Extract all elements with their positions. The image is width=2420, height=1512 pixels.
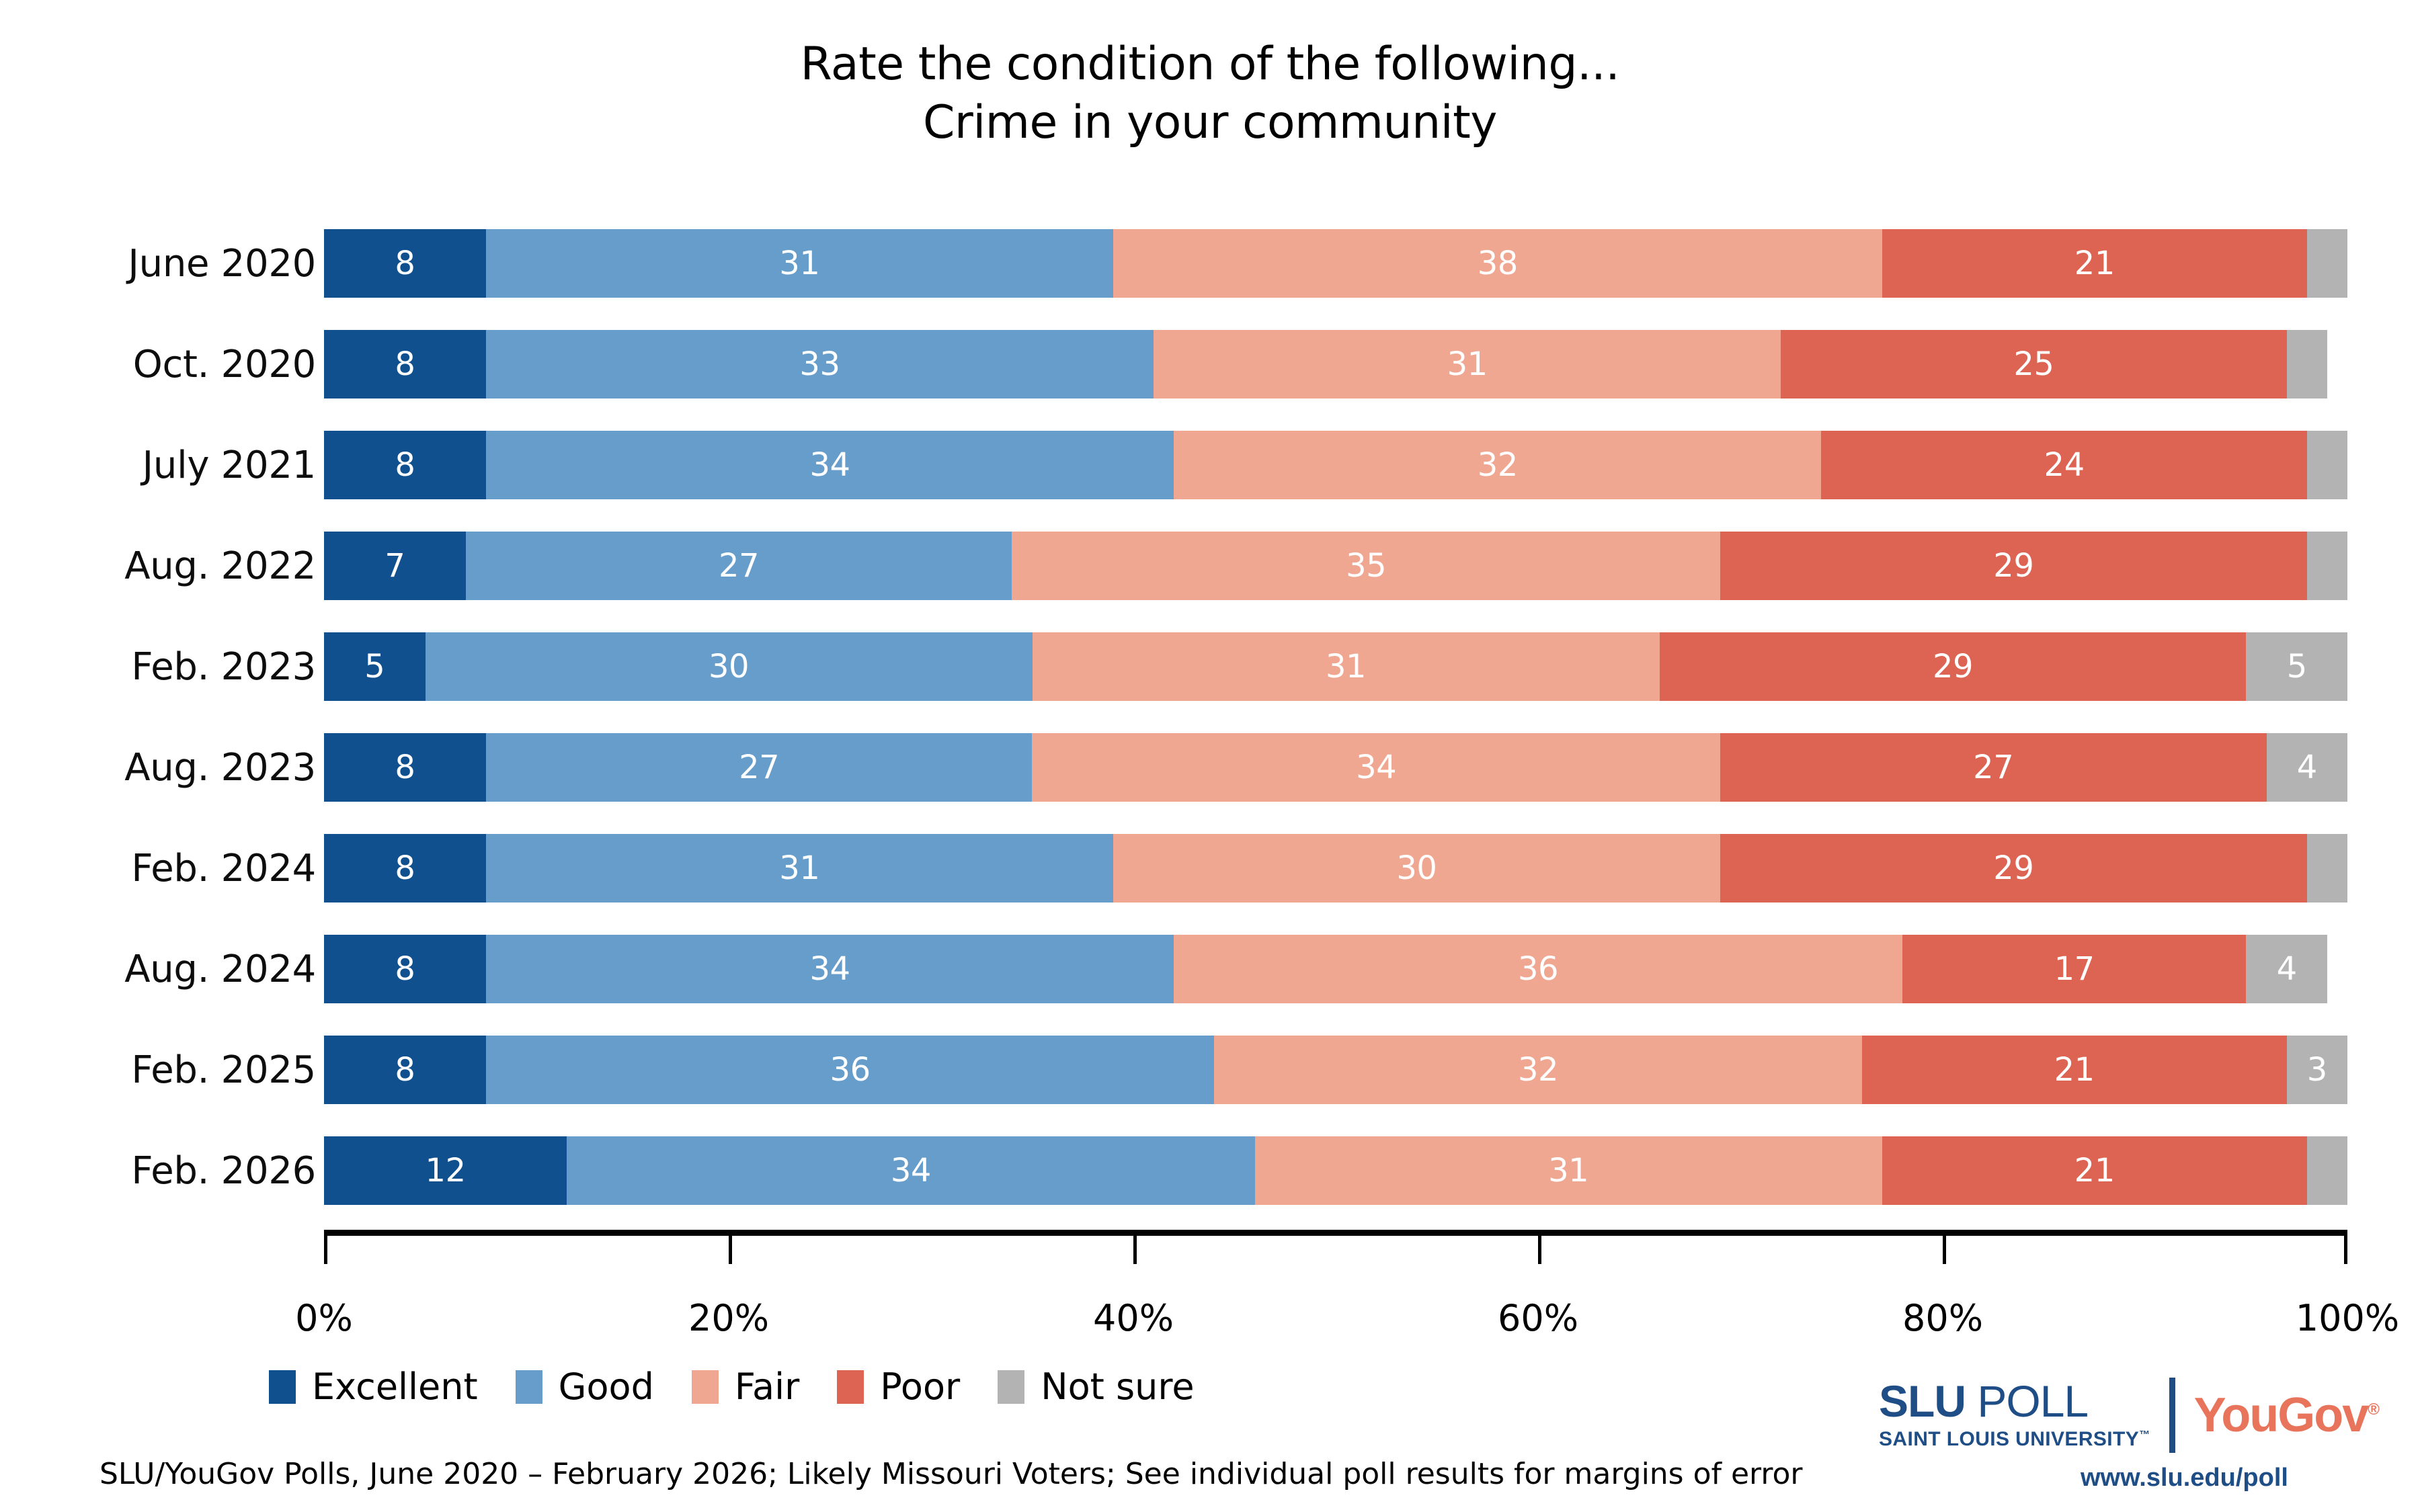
- bar-row: 83436174: [324, 919, 2347, 1019]
- registered-trademark-icon: ®: [2368, 1400, 2378, 1419]
- bar-segment-value: 33: [799, 345, 840, 383]
- bar-segment-value: 7: [385, 547, 405, 585]
- bar-row: 83632213: [324, 1019, 2347, 1120]
- bar-segment-value: 31: [1548, 1152, 1588, 1189]
- x-axis-tick-label: 80%: [1902, 1297, 1983, 1339]
- bar-segment-value: 31: [1326, 648, 1366, 685]
- bar-segment-value: 8: [395, 446, 415, 484]
- y-axis-label: July 2021: [67, 415, 316, 515]
- bar-segment-not-sure: 4: [2246, 935, 2327, 1003]
- bar-segment-value: 3: [2307, 1051, 2327, 1089]
- bar-segment-good: 27: [486, 733, 1033, 802]
- bar-segment-fair: 38: [1113, 229, 1882, 298]
- bar-segment-value: 12: [426, 1152, 466, 1189]
- bar-segment-excellent: 5: [324, 632, 426, 701]
- legend-swatch-icon: [998, 1370, 1024, 1404]
- x-axis-tick: [324, 1236, 327, 1264]
- legend-label: Poor: [880, 1366, 960, 1408]
- bar-segment-value: 27: [719, 547, 759, 585]
- x-axis-tick: [729, 1236, 732, 1264]
- x-axis-tick-label: 60%: [1498, 1297, 1578, 1339]
- bar-segment-poor: 21: [1862, 1036, 2287, 1104]
- legend-item-fair[interactable]: Fair: [692, 1366, 799, 1408]
- bar-segment-value: 8: [395, 849, 415, 887]
- bar-segment-poor: 21: [1882, 1136, 2307, 1205]
- bar-segment-excellent: 8: [324, 834, 486, 902]
- bar-row: 8333125: [324, 314, 2347, 415]
- bar-segment-value: 27: [1973, 749, 2013, 786]
- bar-segment-value: 29: [1933, 648, 1973, 685]
- legend-swatch-icon: [837, 1370, 864, 1404]
- bar-segment-not-sure: [2307, 532, 2347, 600]
- bar-segment-value: 8: [395, 1051, 415, 1089]
- bar-segment-value: 32: [1518, 1051, 1558, 1089]
- y-axis-label: Feb. 2025: [67, 1019, 316, 1120]
- bar-segment-value: 25: [2013, 345, 2054, 383]
- bar-row: 8313029: [324, 818, 2347, 919]
- bar-segment-value: 30: [709, 648, 749, 685]
- legend-label: Good: [559, 1366, 654, 1408]
- bar-segment-fair: 31: [1154, 330, 1781, 398]
- x-axis-tick: [1538, 1236, 1541, 1264]
- bar-segment-value: 36: [1518, 950, 1558, 988]
- bar-track: 8313029: [324, 834, 2347, 902]
- bar-segment-good: 34: [567, 1136, 1254, 1205]
- bar-segment-fair: 31: [1255, 1136, 1882, 1205]
- bar-segment-poor: 27: [1720, 733, 2267, 802]
- bar-segment-excellent: 8: [324, 431, 486, 499]
- bar-segment-value: 31: [1447, 345, 1488, 383]
- bar-segment-value: 29: [1993, 547, 2033, 585]
- bar-segment-excellent: 8: [324, 935, 486, 1003]
- bar-segment-value: 31: [779, 849, 819, 887]
- bar-segment-fair: 32: [1174, 431, 1821, 499]
- bar-segment-poor: 29: [1720, 834, 2307, 902]
- bar-segment-value: 5: [364, 648, 385, 685]
- bar-segment-value: 21: [2054, 1051, 2095, 1089]
- bar-segment-poor: 29: [1720, 532, 2307, 600]
- x-axis-tick: [1943, 1236, 1946, 1264]
- bar-segment-good: 34: [486, 935, 1174, 1003]
- bar-track: 8313821: [324, 229, 2347, 298]
- bar-segment-fair: 32: [1214, 1036, 1861, 1104]
- bar-segment-value: 31: [779, 245, 819, 282]
- bar-segment-poor: 24: [1821, 431, 2306, 499]
- bar-segment-good: 31: [486, 834, 1113, 902]
- saint-louis-university-text: SAINT LOUIS UNIVERSITY™: [1879, 1427, 2150, 1452]
- bar-segment-value: 8: [395, 245, 415, 282]
- bar-segment-value: 34: [891, 1152, 931, 1189]
- bar-segment-good: 27: [466, 532, 1012, 600]
- x-axis-line: [324, 1230, 2347, 1236]
- y-axis-label: Aug. 2024: [67, 919, 316, 1019]
- bar-row: 12343121: [324, 1120, 2347, 1221]
- legend-label: Excellent: [312, 1366, 478, 1408]
- bar-segment-value: 27: [739, 749, 779, 786]
- x-axis-tick-label: 0%: [295, 1297, 353, 1339]
- bar-segment-excellent: 8: [324, 229, 486, 298]
- slu-poll-yougov-logo: SLU POLL SAINT LOUIS UNIVERSITY™ YouGov®…: [1879, 1378, 2378, 1493]
- bar-segment-value: 34: [809, 950, 850, 988]
- bar-segment-not-sure: [2307, 1136, 2347, 1205]
- bar-segment-fair: 31: [1033, 632, 1660, 701]
- logo-row: SLU POLL SAINT LOUIS UNIVERSITY™ YouGov®: [1879, 1378, 2378, 1453]
- legend-swatch-icon: [692, 1370, 719, 1404]
- bar-track: 83436174: [324, 935, 2347, 1003]
- slu-sub-text: SAINT LOUIS UNIVERSITY: [1879, 1428, 2139, 1450]
- bar-segment-excellent: 8: [324, 330, 486, 398]
- trademark-icon: ™: [2139, 1429, 2150, 1441]
- x-axis-tick-label: 40%: [1093, 1297, 1174, 1339]
- bar-track: 53031295: [324, 632, 2347, 701]
- legend-swatch-icon: [516, 1370, 542, 1404]
- slu-poll-logo: SLU POLL SAINT LOUIS UNIVERSITY™: [1879, 1379, 2150, 1452]
- y-axis-category-labels: June 2020Oct. 2020July 2021Aug. 2022Feb.…: [67, 213, 316, 1221]
- bar-segment-fair: 36: [1174, 935, 1902, 1003]
- logo-divider: [2169, 1378, 2175, 1453]
- bar-segment-not-sure: [2287, 330, 2327, 398]
- bar-segment-value: 36: [830, 1051, 871, 1089]
- bar-segment-value: 8: [395, 345, 415, 383]
- y-axis-label: Aug. 2023: [67, 717, 316, 818]
- bar-segment-good: 30: [426, 632, 1033, 701]
- yougov-wordmark: YouGov®: [2194, 1391, 2378, 1439]
- bar-segment-value: 4: [2297, 749, 2317, 786]
- bar-segment-not-sure: 4: [2267, 733, 2347, 802]
- bar-row: 8343224: [324, 415, 2347, 515]
- bar-segment-not-sure: [2307, 834, 2347, 902]
- legend-item-not-sure[interactable]: Not sure: [998, 1366, 1194, 1408]
- legend-item-poor[interactable]: Poor: [837, 1366, 960, 1408]
- bar-segment-value: 32: [1478, 446, 1518, 484]
- bar-segment-poor: 21: [1882, 229, 2307, 298]
- bar-row: 7273529: [324, 515, 2347, 616]
- y-axis-label: Feb. 2026: [67, 1120, 316, 1221]
- bar-track: 12343121: [324, 1136, 2347, 1205]
- bar-segment-good: 33: [486, 330, 1154, 398]
- bar-segment-excellent: 7: [324, 532, 466, 600]
- bar-segment-excellent: 8: [324, 733, 486, 802]
- bar-segment-excellent: 8: [324, 1036, 486, 1104]
- x-axis-tick-label: 100%: [2296, 1297, 2399, 1339]
- legend-label: Fair: [735, 1366, 799, 1408]
- bar-segment-not-sure: 5: [2246, 632, 2347, 701]
- bar-row: 82734274: [324, 717, 2347, 818]
- y-axis-label: Aug. 2022: [67, 515, 316, 616]
- bar-segment-value: 30: [1396, 849, 1437, 887]
- bar-segment-poor: 17: [1902, 935, 2247, 1003]
- bar-row: 53031295: [324, 616, 2347, 717]
- bar-segment-fair: 30: [1113, 834, 1720, 902]
- bar-segment-good: 36: [486, 1036, 1215, 1104]
- bar-segment-good: 31: [486, 229, 1113, 298]
- y-axis-label: Feb. 2024: [67, 818, 316, 919]
- poll-text: POLL: [1977, 1376, 2088, 1426]
- bar-segment-fair: 34: [1032, 733, 1720, 802]
- bar-segment-value: 34: [809, 446, 850, 484]
- bar-segment-value: 8: [395, 950, 415, 988]
- bar-segment-excellent: 12: [324, 1136, 567, 1205]
- slu-poll-url: www.slu.edu/poll: [2081, 1464, 2288, 1493]
- x-axis-tick-label: 20%: [688, 1297, 769, 1339]
- legend-label: Not sure: [1041, 1366, 1194, 1408]
- bar-segment-value: 8: [395, 749, 415, 786]
- bar-segment-value: 24: [2044, 446, 2085, 484]
- bar-segment-poor: 29: [1660, 632, 2247, 701]
- bar-track: 83632213: [324, 1036, 2347, 1104]
- bar-segment-fair: 35: [1012, 532, 1720, 600]
- slu-poll-wordmark: SLU POLL: [1879, 1379, 2088, 1423]
- bar-segment-value: 35: [1346, 547, 1386, 585]
- legend-item-excellent[interactable]: Excellent: [269, 1366, 478, 1408]
- y-axis-label: Oct. 2020: [67, 314, 316, 415]
- slu-bold-text: SLU: [1879, 1376, 1966, 1426]
- bar-segment-value: 5: [2287, 648, 2307, 685]
- y-axis-label: June 2020: [67, 213, 316, 314]
- bar-segment-value: 4: [2277, 950, 2297, 988]
- bar-segment-value: 17: [2054, 950, 2095, 988]
- bar-segment-not-sure: [2307, 431, 2347, 499]
- bar-track: 8343224: [324, 431, 2347, 499]
- bar-segment-value: 38: [1478, 245, 1518, 282]
- legend-item-good[interactable]: Good: [516, 1366, 654, 1408]
- bar-segment-value: 29: [1993, 849, 2033, 887]
- yougov-text: YouGov: [2194, 1388, 2368, 1442]
- bar-track: 82734274: [324, 733, 2347, 802]
- chart-plot-area: June 2020Oct. 2020July 2021Aug. 2022Feb.…: [0, 0, 2420, 1512]
- chart-legend: ExcellentGoodFairPoorNot sure: [269, 1366, 1232, 1408]
- legend-swatch-icon: [269, 1370, 296, 1404]
- bar-segment-poor: 25: [1781, 330, 2287, 398]
- bar-segment-value: 21: [2074, 245, 2115, 282]
- x-axis-tick: [1133, 1236, 1137, 1264]
- x-axis-tick: [2344, 1236, 2347, 1264]
- bar-segment-value: 34: [1356, 749, 1396, 786]
- bar-segment-not-sure: 3: [2287, 1036, 2347, 1104]
- bar-track: 8333125: [324, 330, 2347, 398]
- bar-segment-value: 21: [2074, 1152, 2115, 1189]
- y-axis-label: Feb. 2023: [67, 616, 316, 717]
- bar-segment-good: 34: [486, 431, 1174, 499]
- chart-footnote: SLU/YouGov Polls, June 2020 – February 2…: [99, 1457, 1803, 1491]
- stacked-bar-rows: 8313821833312583432247273529530312958273…: [324, 213, 2347, 1221]
- bar-segment-not-sure: [2307, 229, 2347, 298]
- bar-row: 8313821: [324, 213, 2347, 314]
- bar-track: 7273529: [324, 532, 2347, 600]
